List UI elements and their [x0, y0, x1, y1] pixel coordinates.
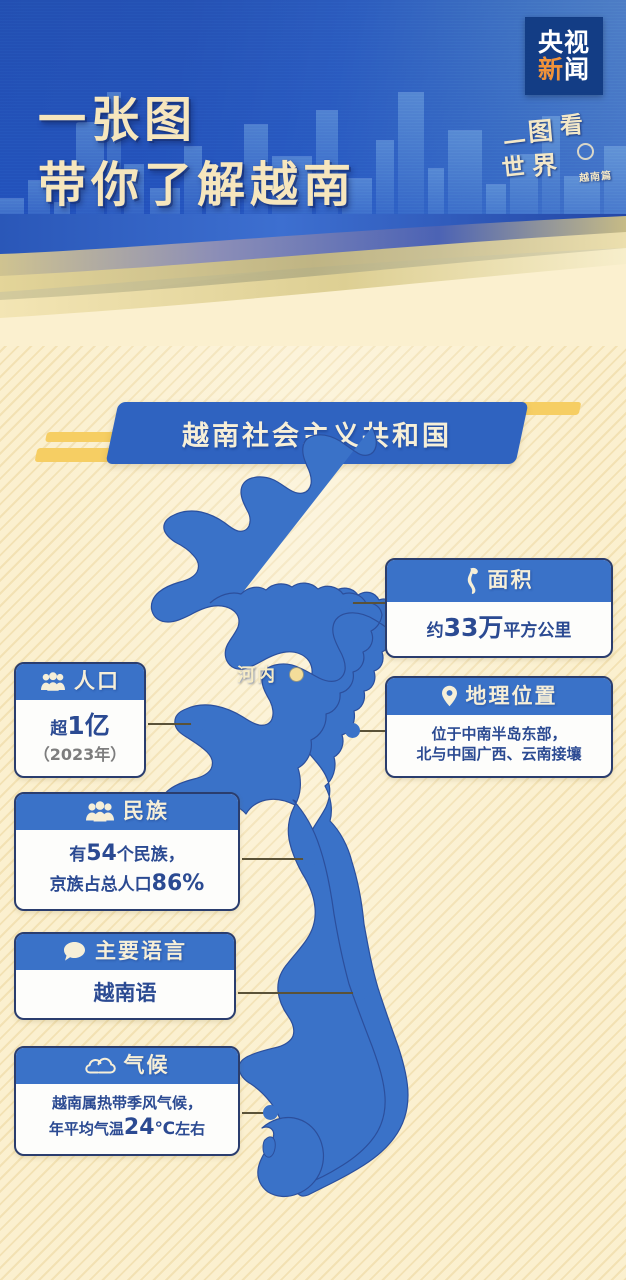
- population-number: 1亿: [67, 711, 109, 740]
- people-three-icon-svg: [85, 801, 115, 822]
- population-value-row: 超1亿: [28, 709, 132, 743]
- card-body-climate: 越南属热带季风气候， 年平均气温24℃左右: [16, 1084, 238, 1154]
- info-card-area: 面积 约33万平方公里: [385, 558, 613, 658]
- hero-title: 一张图 带你了解越南: [38, 92, 356, 213]
- hanoi-dot-marker: [290, 668, 303, 681]
- people-group-icon-svg: [40, 672, 66, 692]
- connector-dot-ethnic: [303, 851, 318, 866]
- climate-line-1: 越南属热带季风气候，: [28, 1093, 226, 1113]
- card-title-ethnic: 民族: [123, 801, 169, 822]
- card-header-area: 面积: [387, 560, 611, 602]
- banner-title-text: 越南社会主义共和国: [112, 402, 522, 464]
- infographic-poster: 一张图 带你了解越南 央视 新闻 一 图 看 世 界 越南篇: [0, 0, 626, 1280]
- card-title-population: 人口: [74, 671, 120, 692]
- geography-line-2: 北与中国广西、云南接壤: [399, 744, 599, 764]
- cloud-icon: [85, 1056, 116, 1076]
- language-value: 越南语: [94, 981, 157, 1005]
- geography-line-1: 位于中南半岛东部，: [399, 724, 599, 744]
- series-stamp-yitukanshijie: 一 图 看 世 界 越南篇: [502, 113, 610, 191]
- stamp-char-2: 图: [527, 118, 554, 145]
- card-header-population: 人口: [16, 664, 144, 700]
- climate-temp-unit: ℃: [155, 1119, 176, 1139]
- ethnic-line1-prefix: 有: [69, 845, 86, 865]
- population-note: （2023年）: [28, 744, 132, 766]
- location-pin-icon: [441, 685, 458, 707]
- cctv-logo-wen: 闻: [564, 55, 590, 84]
- wave-svg: [0, 214, 626, 346]
- card-body-geography: 位于中南半岛东部， 北与中国广西、云南接壤: [387, 715, 611, 776]
- climate-temp: 24: [124, 1115, 155, 1140]
- info-card-ethnic: 民族 有54个民族， 京族占总人口86%: [14, 792, 240, 911]
- location-pin-icon-svg: [441, 685, 458, 707]
- card-header-climate: 气候: [16, 1048, 238, 1084]
- info-card-language: 主要语言 越南语: [14, 932, 236, 1020]
- info-card-population: 人口 超1亿 （2023年）: [14, 662, 146, 778]
- card-body-area: 约33万平方公里: [387, 602, 611, 656]
- info-card-geography: 地理位置 位于中南半岛东部， 北与中国广西、云南接壤: [385, 676, 613, 778]
- stamp-char-1: 一: [503, 132, 528, 157]
- connector-dot-climate: [263, 1105, 278, 1120]
- speech-bubble-icon: [63, 941, 87, 962]
- ethnic-line2-prefix: 京族占总人口: [50, 875, 152, 895]
- ethnic-count: 54: [86, 841, 117, 866]
- connector-dot-language: [353, 985, 368, 1000]
- cctv-news-logo: 央视 新闻: [525, 17, 603, 95]
- climate-line2-suffix: 左右: [175, 1120, 205, 1138]
- connector-dot-geography: [345, 723, 360, 738]
- ethnic-line-1: 有54个民族，: [28, 839, 226, 869]
- card-title-geography: 地理位置: [466, 686, 558, 707]
- ethnic-line1-suffix: 个民族，: [117, 845, 185, 865]
- stamp-char-4: 世: [501, 156, 526, 181]
- cctv-logo-xin: 新: [538, 55, 564, 84]
- card-title-language: 主要语言: [95, 941, 187, 962]
- area-prefix: 约: [427, 621, 444, 641]
- hanoi-label: 河内: [237, 661, 277, 687]
- stamp-ring-decoration: [577, 143, 594, 160]
- speech-bubble-icon-svg: [63, 941, 87, 962]
- card-title-area: 面积: [488, 570, 534, 591]
- stamp-char-5: 界: [531, 152, 557, 178]
- vietnam-map-icon-svg: [465, 567, 480, 594]
- population-prefix: 超: [50, 719, 67, 739]
- card-header-geography: 地理位置: [387, 678, 611, 715]
- card-body-language: 越南语: [16, 970, 234, 1018]
- card-header-language: 主要语言: [16, 934, 234, 970]
- card-header-ethnic: 民族: [16, 794, 238, 830]
- hero-title-line2: 带你了解越南: [38, 157, 356, 214]
- connector-line-language: [238, 992, 360, 994]
- info-card-climate: 气候 越南属热带季风气候， 年平均气温24℃左右: [14, 1046, 240, 1156]
- cctv-logo-row2: 新闻: [538, 57, 590, 83]
- stamp-char-3: 看: [559, 114, 584, 139]
- country-name-banner: 越南社会主义共和国: [0, 396, 626, 472]
- connector-dot-area: [338, 595, 353, 610]
- area-unit: 平方公里: [503, 621, 571, 641]
- connector-line-ethnic: [242, 858, 310, 860]
- vietnam-map-icon: [465, 567, 480, 594]
- ethnic-percent: 86%: [152, 871, 205, 896]
- climate-line-2: 年平均气温24℃左右: [28, 1113, 226, 1143]
- card-body-ethnic: 有54个民族， 京族占总人口86%: [16, 830, 238, 909]
- stamp-subtitle: 越南篇: [578, 167, 612, 185]
- ethnic-line-2: 京族占总人口86%: [28, 869, 226, 899]
- area-number: 33万: [444, 613, 504, 642]
- cloud-icon-svg: [85, 1056, 116, 1076]
- decorative-wave-ribbons: [0, 214, 626, 346]
- card-title-climate: 气候: [124, 1055, 170, 1076]
- connector-dot-population: [191, 716, 206, 731]
- hero-title-line1: 一张图: [38, 92, 356, 149]
- people-three-icon: [85, 801, 115, 822]
- banner-accent-left-1: [45, 432, 119, 442]
- card-body-population: 超1亿 （2023年）: [16, 700, 144, 776]
- cctv-logo-row1: 央视: [538, 30, 590, 56]
- people-group-icon: [40, 672, 66, 692]
- climate-line2-prefix: 年平均气温: [49, 1120, 124, 1138]
